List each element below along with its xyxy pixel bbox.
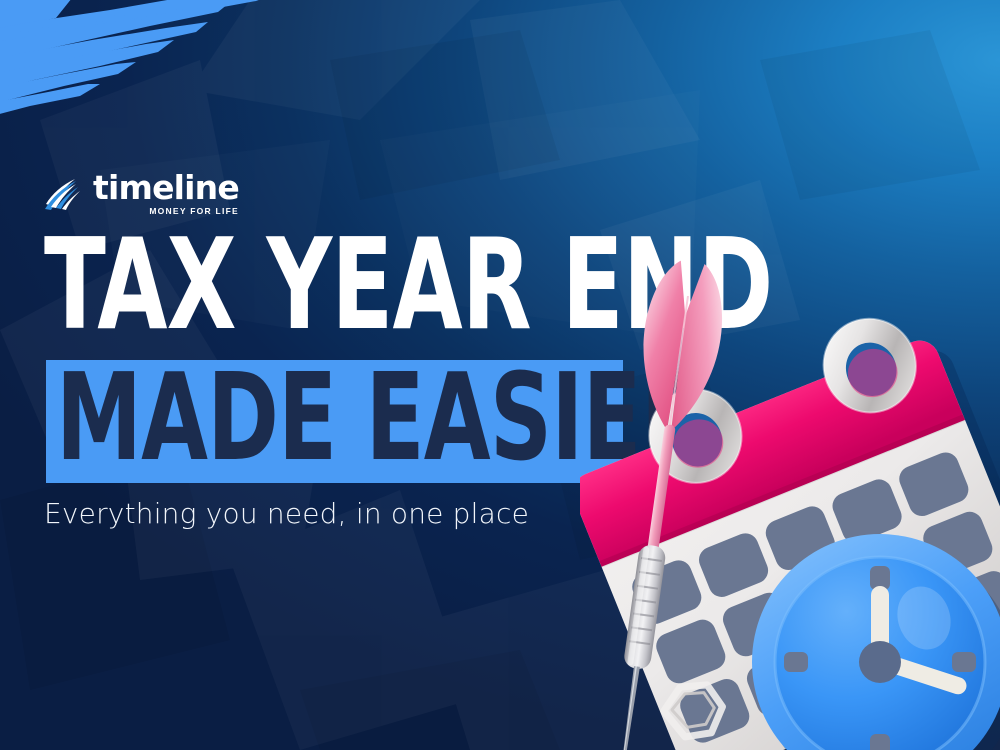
headline-highlight-box: MADE EASIER — [46, 360, 623, 483]
logo-text-block: timeline MONEY FOR LIFE — [93, 172, 239, 216]
marketing-banner: timeline MONEY FOR LIFE TAX YEAR END MAD… — [0, 0, 1000, 750]
clock-center-hub — [859, 641, 901, 683]
brush-stroke-icon — [0, 0, 300, 124]
brand-logo[interactable]: timeline MONEY FOR LIFE — [44, 172, 239, 216]
illustration-group — [580, 210, 1000, 750]
subtitle: Everything you need, in one place — [44, 497, 529, 530]
swoosh-stripes-icon — [44, 176, 84, 212]
brand-name: timeline — [93, 172, 239, 203]
